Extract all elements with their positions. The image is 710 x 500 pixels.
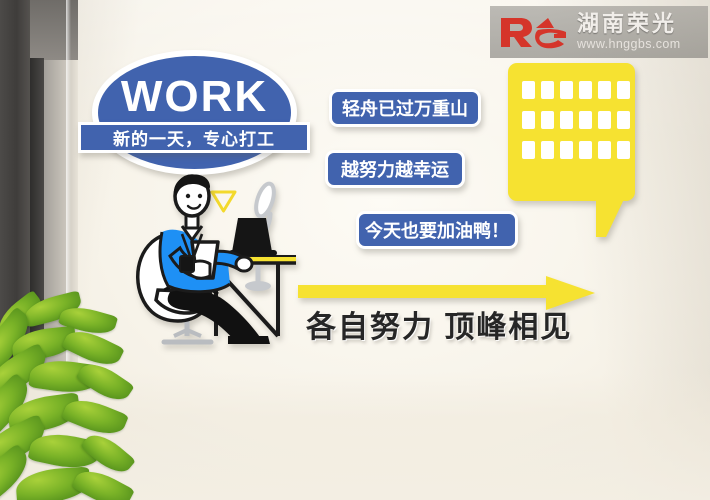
work-title: WORK	[92, 72, 297, 122]
watermark-logo: 湖南荣光 www.hnggbs.com	[490, 6, 708, 58]
slogan-pill-3-label: 今天也要加油鸭！	[365, 217, 509, 243]
speech-bubble-grid-cell	[522, 81, 535, 99]
speech-bubble-grid-cell	[598, 141, 611, 159]
speech-bubble-grid	[522, 81, 630, 159]
wall-decal-scene: WORK 新的一天，专心打工 轻舟已过万重山 越努力越幸运 今天也要加油鸭！	[0, 0, 710, 500]
person-at-desk-illustration	[112, 160, 302, 350]
speech-bubble-grid-cell	[617, 81, 630, 99]
slogan-pill-2-label: 越努力越幸运	[341, 156, 449, 182]
speech-bubble-grid-cell	[541, 141, 554, 159]
watermark-url: www.hnggbs.com	[577, 38, 681, 51]
watermark-brand: 湖南荣光	[577, 13, 681, 35]
slogan-pill-2: 越努力越幸运	[325, 150, 465, 188]
slogan-pill-1-label: 轻舟已过万重山	[342, 95, 468, 121]
speech-bubble-grid-cell	[579, 81, 592, 99]
yellow-speech-bubble	[508, 63, 635, 201]
rg-monogram-icon	[498, 14, 570, 50]
slogan-pill-1: 轻舟已过万重山	[329, 89, 481, 127]
slogan-pill-3: 今天也要加油鸭！	[356, 211, 518, 249]
speech-bubble-grid-cell	[522, 141, 535, 159]
bottom-slogan: 各自努力 顶峰相见	[306, 302, 572, 346]
speech-bubble-grid-cell	[560, 81, 573, 99]
speech-bubble-grid-cell	[522, 111, 535, 129]
speech-bubble-grid-cell	[560, 141, 573, 159]
work-ribbon-label: 新的一天，专心打工	[81, 125, 307, 150]
arrow-shaft	[298, 285, 550, 298]
speech-bubble-grid-cell	[579, 111, 592, 129]
speech-bubble-grid-cell	[617, 141, 630, 159]
speech-bubble-grid-cell	[560, 111, 573, 129]
speech-bubble-grid-cell	[617, 111, 630, 129]
speech-bubble-grid-cell	[598, 81, 611, 99]
speech-bubble-grid-cell	[541, 81, 554, 99]
watermark-texts: 湖南荣光 www.hnggbs.com	[577, 13, 681, 51]
work-bubble: WORK	[92, 50, 297, 175]
work-ribbon: 新的一天，专心打工	[78, 122, 310, 153]
speech-bubble-grid-cell	[541, 111, 554, 129]
speech-bubble-grid-cell	[598, 111, 611, 129]
speech-bubble-tail	[596, 195, 626, 237]
speech-bubble-grid-cell	[579, 141, 592, 159]
